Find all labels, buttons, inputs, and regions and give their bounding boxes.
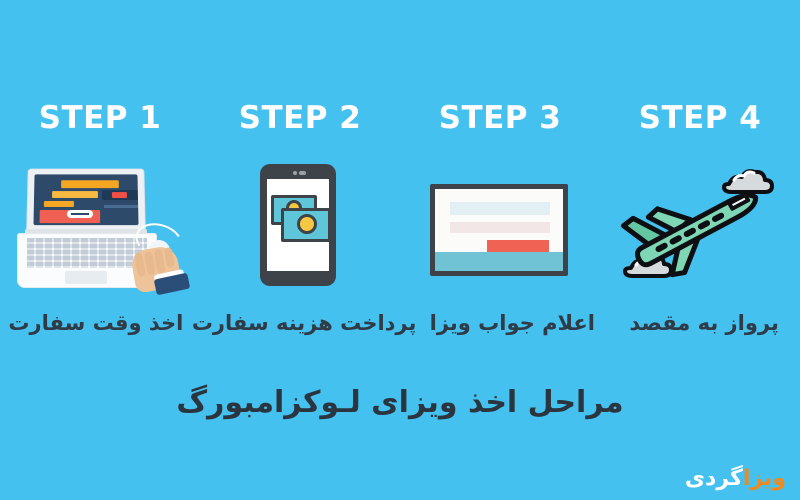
laptop-lid xyxy=(26,169,146,232)
screen-play-badge xyxy=(112,192,127,198)
step-heading-cell-2: STEP 2 xyxy=(200,92,400,144)
document-line-blue xyxy=(450,202,550,215)
step-headings-row: STEP 1 STEP 2 STEP 3 STEP 4 xyxy=(0,92,800,144)
step-3-title: STEP 3 xyxy=(439,100,562,136)
watermark-brand-secondary: گردی xyxy=(685,466,743,491)
icon-cell-3 xyxy=(400,164,600,290)
screen-pill-dots xyxy=(71,213,89,215)
icon-cell-4 xyxy=(600,164,800,290)
cloud-top-icon xyxy=(724,171,772,192)
step-4-caption: پرواز به مقصد xyxy=(629,311,778,335)
step-heading-cell-4: STEP 4 xyxy=(600,92,800,144)
step-3-caption: اعلام جواب ویزا xyxy=(430,311,595,335)
smartphone-money-icon xyxy=(260,164,340,290)
screen-bar-orange-2 xyxy=(52,191,98,198)
laptop-screen xyxy=(33,174,138,225)
step-4-title: STEP 4 xyxy=(639,100,762,136)
caption-cell-2: پرداخت هزینه سفارت xyxy=(192,300,417,346)
phone-camera-dot xyxy=(293,171,297,175)
step-captions-row: اخذ وقت سفارت پرداخت هزینه سفارت اعلام ج… xyxy=(0,300,800,346)
document-line-pink xyxy=(450,222,550,233)
airplane-icon xyxy=(615,164,785,290)
phone-speaker xyxy=(299,171,306,175)
step-heading-cell-3: STEP 3 xyxy=(400,92,600,144)
icon-cell-2 xyxy=(200,164,400,290)
coin-front xyxy=(297,214,317,234)
watermark-logo: ویزاگردی xyxy=(685,468,786,490)
step-2-caption: پرداخت هزینه سفارت xyxy=(192,311,417,335)
icon-cell-1 xyxy=(0,164,200,290)
screen-bar-orange-3 xyxy=(44,201,74,207)
document-frame xyxy=(430,184,568,276)
step-icons-row xyxy=(0,164,800,290)
laptop-keyboard xyxy=(27,238,147,268)
page-title: مراحل اخذ ویزای لـوکزامبورگ xyxy=(0,385,800,420)
visa-document-icon xyxy=(425,164,575,290)
watermark-brand-primary: ویزا xyxy=(743,466,786,491)
caption-cell-4: پرواز به مقصد xyxy=(608,300,800,346)
caption-cell-3: اعلام جواب ویزا xyxy=(416,300,608,346)
airplane-svg xyxy=(615,164,785,290)
step-1-caption: اخذ وقت سفارت xyxy=(8,311,183,335)
infographic-canvas: STEP 1 STEP 2 STEP 3 STEP 4 xyxy=(0,0,800,500)
step-1-title: STEP 1 xyxy=(39,100,162,136)
laptop-mouse-icon xyxy=(15,164,185,290)
caption-cell-1: اخذ وقت سفارت xyxy=(0,300,192,346)
step-2-title: STEP 2 xyxy=(239,100,362,136)
step-heading-cell-1: STEP 1 xyxy=(0,92,200,144)
laptop-trackpad xyxy=(65,271,107,284)
document-footer-band xyxy=(435,252,563,271)
screen-text-line xyxy=(104,205,138,208)
screen-bar-orange-1 xyxy=(61,180,119,188)
